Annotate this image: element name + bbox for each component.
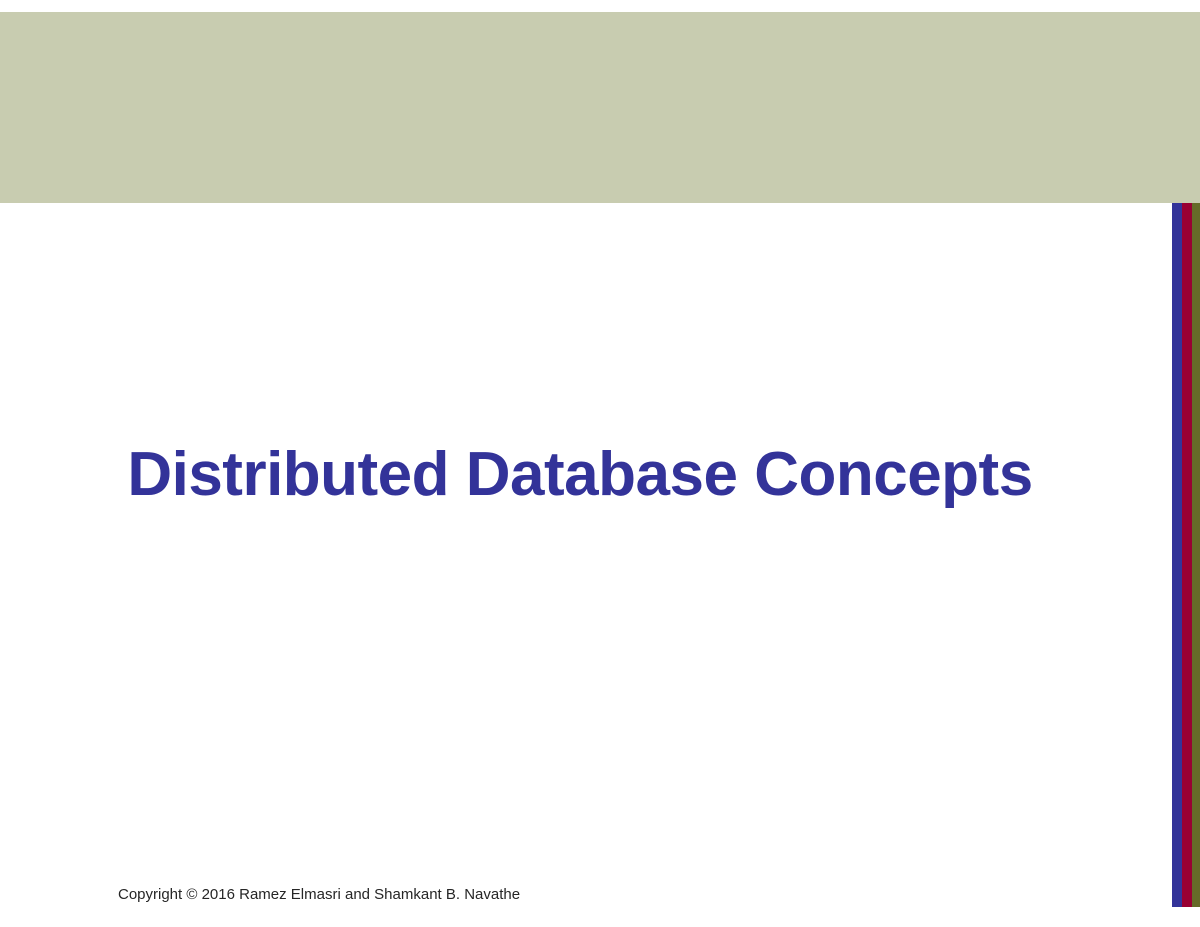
slide-title: Distributed Database Concepts xyxy=(127,442,1032,507)
presentation-slide: Distributed Database Concepts Copyright … xyxy=(0,0,1200,927)
stripe-maroon xyxy=(1182,203,1192,907)
right-edge-stripe-group xyxy=(1172,203,1200,907)
copyright-notice: Copyright © 2016 Ramez Elmasri and Shamk… xyxy=(118,886,1018,903)
title-area: Distributed Database Concepts xyxy=(0,415,1160,535)
stripe-blue xyxy=(1172,203,1182,907)
stripe-olive xyxy=(1192,203,1200,907)
top-banner-decoration xyxy=(0,12,1200,203)
slide-footer: Copyright © 2016 Ramez Elmasri and Shamk… xyxy=(118,886,1018,903)
